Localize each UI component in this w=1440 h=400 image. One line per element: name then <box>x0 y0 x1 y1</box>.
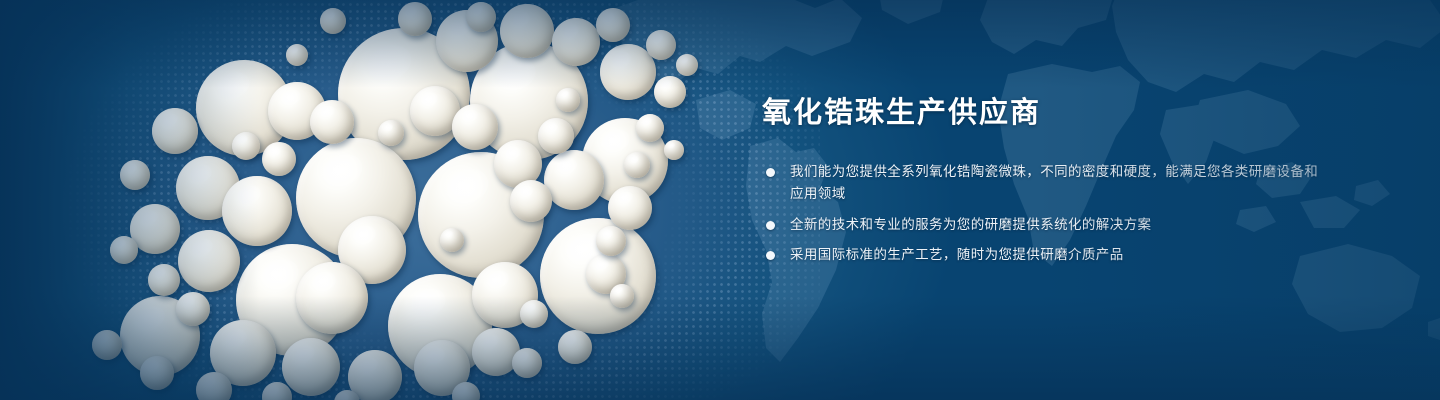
vignette-overlay <box>0 0 1440 400</box>
hero-banner: 氧化锆珠生产供应商 我们能为您提供全系列氧化锆陶瓷微珠，不同的密度和硬度，能满足… <box>0 0 1440 400</box>
